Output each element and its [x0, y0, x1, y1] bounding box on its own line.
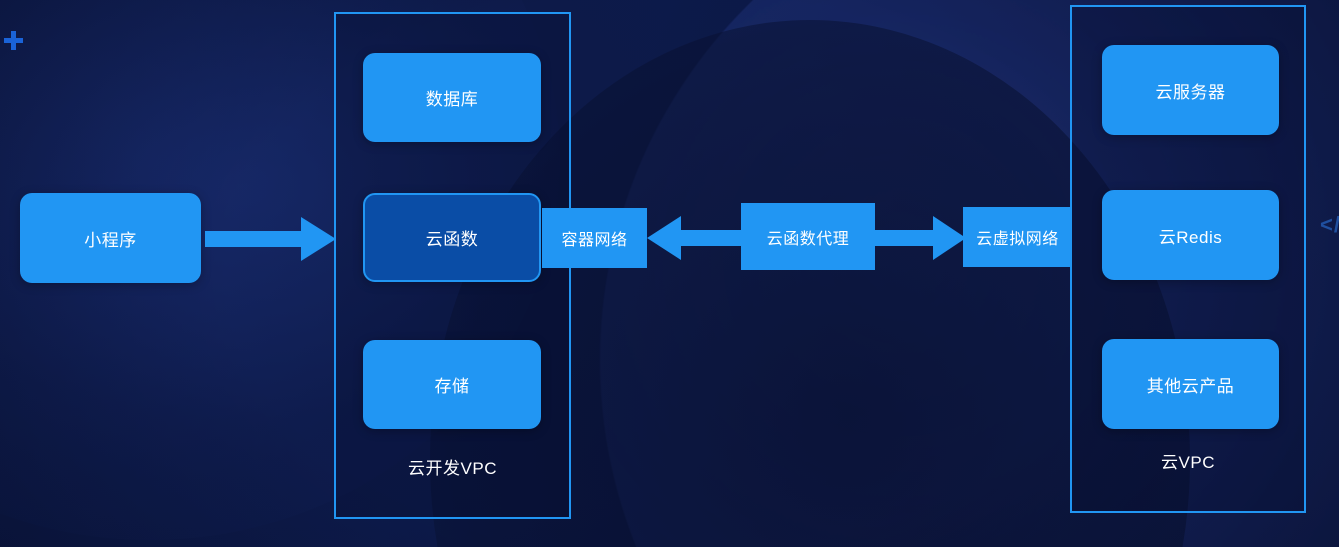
arrow-proxy-to-cloud-virtual-network: [875, 212, 967, 264]
node-cloud-function-proxy[interactable]: 云函数代理: [741, 203, 875, 270]
arrow-proxy-to-container-network: [647, 212, 743, 264]
node-database[interactable]: 数据库: [363, 53, 541, 142]
vpc-cloud-label: 云VPC: [1072, 448, 1304, 473]
node-mini-program-label: 小程序: [84, 226, 137, 251]
node-cloud-virtual-network-label: 云虚拟网络: [976, 225, 1059, 249]
code-bracket-decoration-icon: </: [1320, 212, 1339, 238]
node-cloud-function-proxy-label: 云函数代理: [767, 225, 850, 249]
node-storage[interactable]: 存储: [363, 340, 541, 429]
node-cloud-virtual-network[interactable]: 云虚拟网络: [963, 207, 1072, 267]
node-other-cloud-products[interactable]: 其他云产品: [1102, 339, 1279, 429]
node-container-network[interactable]: 容器网络: [542, 208, 647, 268]
node-other-cloud-products-label: 其他云产品: [1147, 372, 1235, 397]
architecture-diagram-canvas: </ 小程序 云开发VPC 数据库 云函数 存储 容器网络 云函数代理: [0, 0, 1339, 547]
node-cloud-server[interactable]: 云服务器: [1102, 45, 1279, 135]
plus-decoration-icon: [4, 31, 23, 50]
node-cloud-function-label: 云函数: [426, 225, 479, 250]
vpc-cloudbase-label: 云开发VPC: [336, 454, 569, 479]
node-container-network-label: 容器网络: [561, 226, 627, 250]
node-cloud-redis[interactable]: 云Redis: [1102, 190, 1279, 280]
node-cloud-redis-label: 云Redis: [1159, 223, 1222, 248]
node-mini-program[interactable]: 小程序: [20, 193, 201, 283]
node-cloud-server-label: 云服务器: [1156, 78, 1226, 103]
node-cloud-function[interactable]: 云函数: [363, 193, 541, 282]
node-database-label: 数据库: [426, 85, 479, 110]
node-storage-label: 存储: [435, 372, 470, 397]
arrow-mini-program-to-cloudbase: [205, 213, 337, 265]
